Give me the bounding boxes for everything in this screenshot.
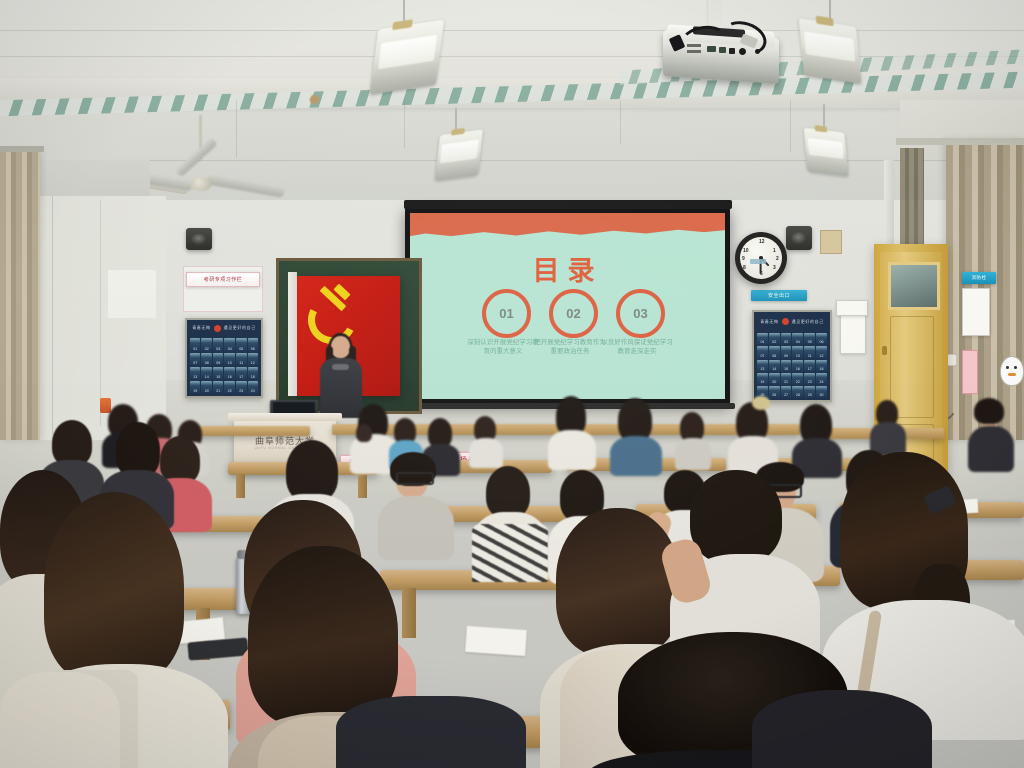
chart-badge	[782, 318, 789, 325]
pocket-chart-cell: 10	[792, 346, 803, 358]
chart-header-right: 遇见更好的自己	[792, 319, 824, 325]
pocket-chart-cell: 22	[792, 373, 803, 385]
bench-leg	[358, 474, 367, 498]
pocket-chart-cell: 14	[201, 367, 212, 380]
wall-box	[820, 230, 842, 254]
wall-seam	[52, 196, 53, 434]
pocket-chart-cell: 18	[816, 360, 827, 372]
pocket-chart-cell: 12	[816, 346, 827, 358]
pocket-chart-cell: 26	[769, 386, 780, 398]
pocket-chart-cell: 24	[816, 373, 827, 385]
projection-screen-frame: 目录 01 02 03 深刻认识开展党纪学习教育的重大意义 把开展党纪学习教育作…	[405, 208, 730, 404]
slide-item-caption-01: 深刻认识开展党纪学习教育的重大意义	[466, 338, 540, 356]
pocket-chart-cell: 03	[781, 333, 792, 345]
pocket-chart-cell: 13	[757, 360, 768, 372]
pocket-chart-cell: 12	[248, 353, 259, 366]
pocket-chart-right: 青春无悔 遇见更好的自己 010203040506070809101112131…	[752, 310, 832, 402]
pocket-chart-cell: 08	[769, 346, 780, 358]
pocket-chart-cell: 22	[224, 381, 235, 394]
fluorescent-light	[799, 18, 862, 84]
pocket-chart-cell: 20	[769, 373, 780, 385]
pocket-chart-grid: 0102030405060708091011121314151617181920…	[190, 338, 258, 394]
lectern-top	[228, 413, 342, 421]
eyeglasses	[396, 472, 434, 485]
pocket-chart-cell: 23	[236, 381, 247, 394]
pocket-chart-cell: 02	[201, 338, 212, 351]
wall-seam	[100, 200, 101, 426]
pocket-chart-cell: 10	[224, 353, 235, 366]
paper-handout	[465, 626, 527, 656]
slide-title: 目录	[410, 249, 725, 288]
pocket-chart-left: 青春无悔 遇见更好的自己 010203040506070809101112131…	[185, 318, 263, 398]
pocket-chart-cell: 04	[224, 338, 235, 351]
pocket-chart-cell: 11	[236, 353, 247, 366]
wall-poster-right	[962, 288, 990, 336]
patterned-shirt	[472, 524, 548, 582]
wall-speaker	[186, 228, 212, 250]
pocket-chart-cell: 13	[190, 367, 201, 380]
left-wall-banner-text: 考研专项习作栏	[186, 272, 260, 287]
pocket-chart-cell: 06	[816, 333, 827, 345]
curtain-rail-left	[0, 146, 44, 152]
pocket-chart-cell: 02	[769, 333, 780, 345]
ceiling-seam	[620, 100, 621, 144]
chart-header-right: 遇见更好的自己	[224, 325, 256, 331]
screen-top-casing	[404, 200, 732, 209]
door-window	[888, 262, 940, 310]
pocket-chart-cell: 24	[248, 381, 259, 394]
pocket-chart-cell: 17	[236, 367, 247, 380]
wall-poster-small	[836, 300, 868, 316]
classroom-photo: 考研专项习作栏 考研专项习作栏 青春无悔 遇见更好的自己 01020304050…	[0, 0, 1024, 768]
pocket-chart-cell: 14	[769, 360, 780, 372]
pocket-chart-cell: 20	[201, 381, 212, 394]
chart-header-left: 青春无悔	[760, 319, 778, 325]
wall-clock: 12 1 2 3 6 8 9 10	[735, 232, 787, 284]
curtain-left	[0, 150, 40, 440]
ceiling-seam	[404, 100, 405, 148]
chart-badge	[214, 325, 221, 332]
wall-red-slip	[962, 350, 978, 394]
blue-wall-sign-right: 消防栓	[962, 272, 996, 284]
pocket-chart-cell: 19	[190, 381, 201, 394]
presenter	[318, 336, 364, 420]
pocket-chart-cell: 23	[804, 373, 815, 385]
slide-wave-decoration	[410, 213, 725, 245]
pocket-chart-grid: 0102030405060708091011121314151617181920…	[757, 333, 827, 398]
slide-item-number-02: 02	[549, 289, 598, 338]
ceiling-seam	[0, 30, 1024, 31]
projector-pole	[706, 0, 709, 24]
projection-screen: 目录 01 02 03 深刻认识开展党纪学习教育的重大意义 把开展党纪学习教育作…	[410, 213, 725, 399]
blue-wall-sign: 安全出口	[751, 290, 807, 301]
curtain-rail-right	[896, 138, 1024, 145]
pocket-chart-cell: 07	[190, 353, 201, 366]
slide-item-caption-03: 以良好作风保证党纪学习教育走深走实	[600, 338, 674, 356]
wall-poster	[840, 310, 866, 354]
pocket-chart-cell: 04	[792, 333, 803, 345]
door-handle[interactable]	[882, 346, 887, 355]
wall-speaker	[786, 226, 812, 250]
pocket-chart-cell: 17	[804, 360, 815, 372]
pocket-chart-cell: 05	[804, 333, 815, 345]
pocket-chart-cell: 05	[236, 338, 247, 351]
wall-paper-note	[108, 270, 156, 318]
chart-header-left: 青春无悔	[192, 325, 210, 331]
desk	[640, 424, 800, 435]
pocket-chart-cell: 30	[816, 386, 827, 398]
flag-left-edge	[288, 272, 297, 396]
orange-cup	[100, 398, 111, 413]
pocket-chart-cell: 18	[248, 367, 259, 380]
pocket-chart-cell: 21	[781, 373, 792, 385]
fluorescent-light	[435, 129, 483, 180]
pocket-chart-cell: 15	[781, 360, 792, 372]
pocket-chart-header: 青春无悔 遇见更好的自己	[187, 320, 261, 337]
cartoon-sticker	[1000, 356, 1024, 386]
tablet-device[interactable]	[187, 637, 248, 660]
pocket-chart-cell: 29	[804, 386, 815, 398]
pocket-chart-cell: 16	[792, 360, 803, 372]
bench-leg	[402, 588, 416, 638]
pocket-chart-cell: 09	[781, 346, 792, 358]
pocket-chart-cell: 21	[213, 381, 224, 394]
ceiling-projector	[663, 22, 783, 84]
pocket-chart-cell: 03	[213, 338, 224, 351]
slide-item-caption-02: 把开展党纪学习教育作为重要政治任务	[533, 338, 607, 356]
pocket-chart-cell: 15	[213, 367, 224, 380]
pocket-chart-cell: 16	[224, 367, 235, 380]
slide-item-number-03: 03	[616, 289, 665, 338]
pocket-chart-cell: 09	[213, 353, 224, 366]
pocket-chart-cell: 01	[190, 338, 201, 351]
ceiling-seam	[790, 100, 791, 152]
fluorescent-light	[370, 19, 444, 94]
slide-item-number-01: 01	[482, 289, 531, 338]
ceiling-seam	[236, 100, 237, 158]
pocket-chart-cell: 01	[757, 333, 768, 345]
clock-face: 12 1 2 3 6 8 9 10	[740, 237, 782, 279]
pocket-chart-cell: 07	[757, 346, 768, 358]
pocket-chart-cell: 27	[781, 386, 792, 398]
pocket-chart-cell: 08	[201, 353, 212, 366]
pocket-chart-cell: 19	[757, 373, 768, 385]
bench-leg	[236, 474, 245, 498]
pocket-chart-cell: 11	[804, 346, 815, 358]
pocket-chart-cell: 28	[792, 386, 803, 398]
pocket-chart-header: 青春无悔 遇见更好的自己	[754, 312, 830, 331]
fluorescent-light	[804, 128, 849, 177]
hammer-sickle-emblem	[308, 292, 366, 338]
pocket-chart-cell: 06	[248, 338, 259, 351]
